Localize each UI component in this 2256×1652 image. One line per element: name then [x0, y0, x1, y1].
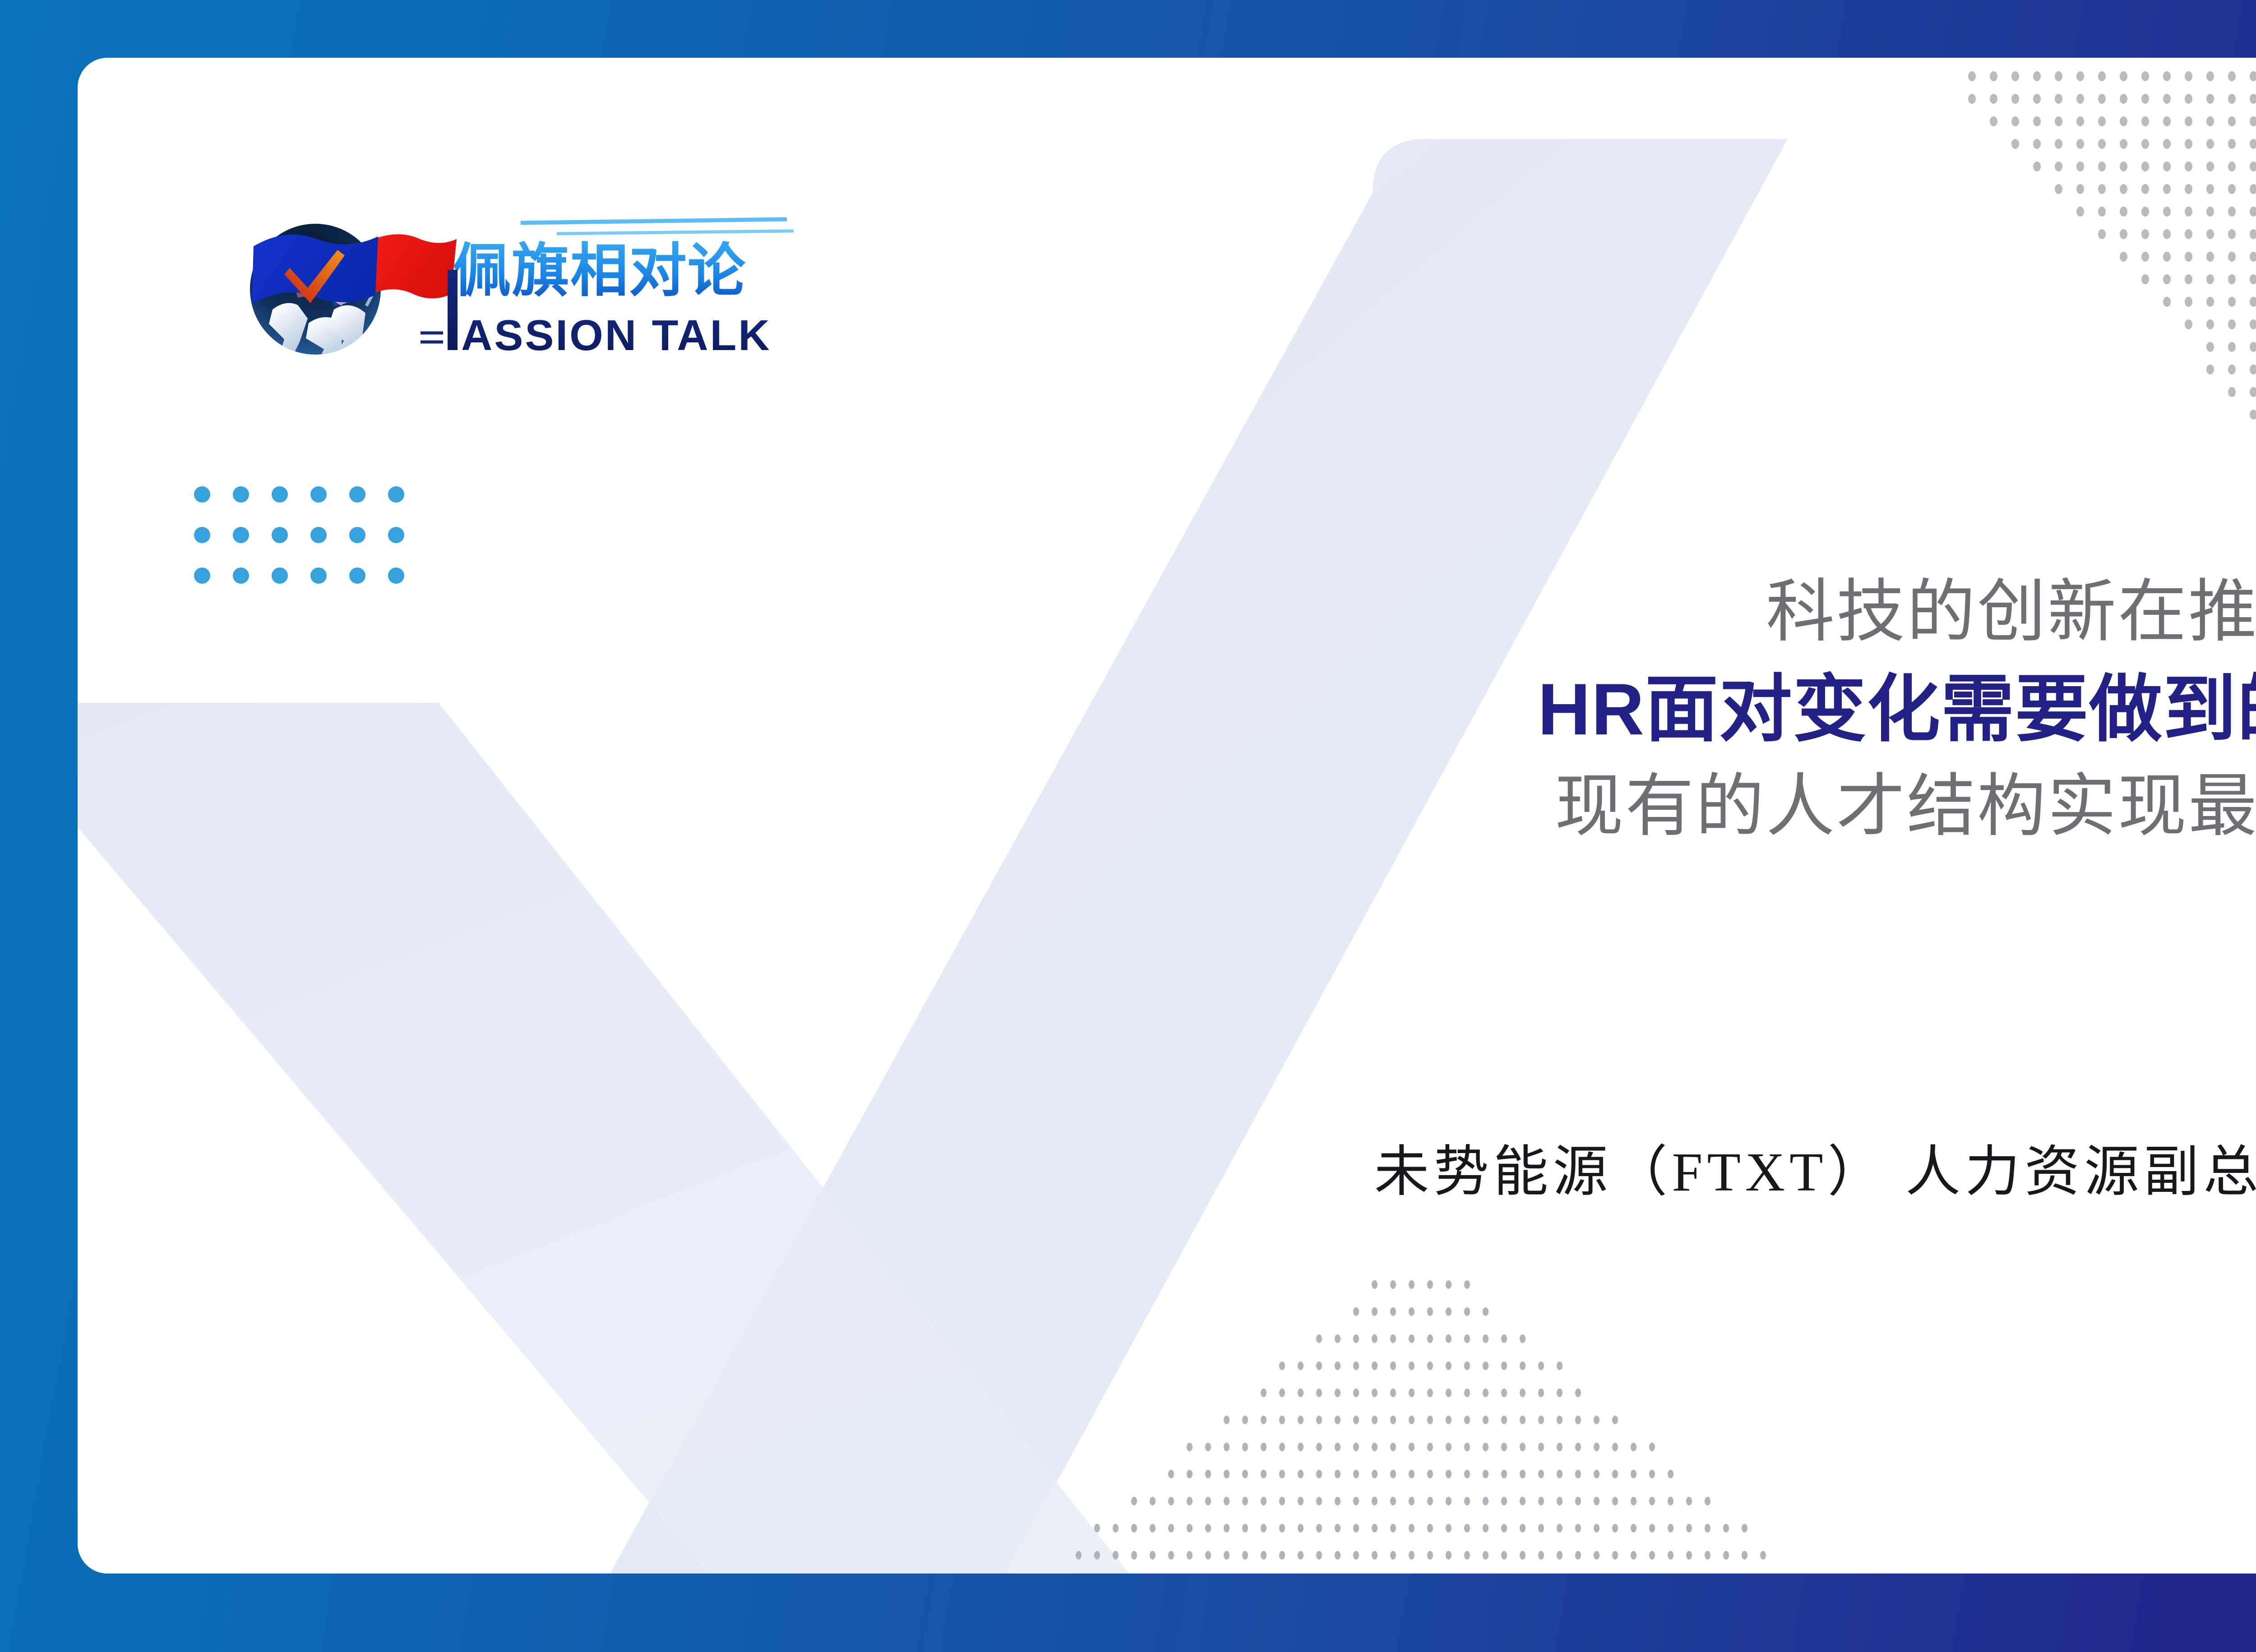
decor-dot: [1520, 1416, 1526, 1424]
decor-dot: [1094, 1551, 1100, 1560]
decor-dot: [2185, 139, 2192, 149]
decor-dot: [1353, 1334, 1359, 1343]
decor-dot: [1557, 1443, 1563, 1451]
decor-dot: [2141, 229, 2149, 239]
decor-dot: [1742, 1551, 1747, 1560]
decor-dot: [1242, 1551, 1248, 1560]
decor-dot: [2228, 207, 2236, 217]
decor-dot: [1335, 1524, 1341, 1532]
decor-dot: [1390, 1551, 1396, 1560]
decor-dot: [2228, 319, 2236, 329]
decor-dot: [1427, 1416, 1433, 1424]
decor-dot: [2206, 342, 2214, 352]
decor-dot: [2228, 184, 2236, 194]
decor-dot: [2250, 229, 2256, 239]
decor-dot: [2055, 184, 2062, 194]
decor-dot: [2250, 94, 2256, 104]
decor-dot: [1594, 1551, 1600, 1560]
decor-dot: [2033, 139, 2041, 149]
decor-dot: [1686, 1497, 1692, 1505]
decor-dot: [1316, 1497, 1322, 1505]
decor-dot: [1224, 1443, 1230, 1451]
decor-dot: [2055, 94, 2062, 104]
decor-dot: [1187, 1524, 1193, 1532]
decor-dot: [349, 568, 365, 584]
decor-dot: [2185, 71, 2192, 81]
decor-dot: [1427, 1307, 1433, 1316]
decor-dot: [1131, 1551, 1137, 1560]
decor-dot: [1316, 1551, 1322, 1560]
decor-dot: [2120, 71, 2127, 81]
decor-dot: [1279, 1524, 1285, 1532]
decor-dot: [1372, 1416, 1378, 1424]
decor-dot: [1131, 1524, 1137, 1532]
decor-dot: [1538, 1551, 1544, 1560]
decor-dot: [2120, 116, 2127, 126]
decor-dot: [1372, 1443, 1378, 1451]
decor-dot: [2055, 162, 2062, 171]
decor-dot: [1390, 1497, 1396, 1505]
decor-dot: [1335, 1497, 1341, 1505]
decor-dot: [2185, 229, 2192, 239]
decor-dot: [1187, 1443, 1193, 1451]
decor-dot: [1501, 1443, 1507, 1451]
decor-dot: [1094, 1524, 1100, 1532]
decor-dot: [2033, 71, 2041, 81]
decor-dot: [2011, 139, 2019, 149]
decor-dot: [2076, 162, 2084, 171]
decor-dot: [1990, 116, 1997, 126]
headline-block: 科技的创新在推动商业的变化 HR面对变化需要做到的是充分调动 现有的人才结构实现…: [741, 568, 2256, 851]
decor-dot: [1427, 1524, 1433, 1532]
decor-dot: [1446, 1524, 1452, 1532]
decor-dot: [1224, 1497, 1230, 1505]
decor-dot: [272, 568, 288, 584]
decor-dot: [1446, 1361, 1452, 1370]
decor-dot: [2033, 116, 2041, 126]
decor-dot: [2250, 184, 2256, 194]
decor-dot: [2076, 184, 2084, 194]
decor-dot: [1335, 1334, 1341, 1343]
decor-dot: [2098, 94, 2106, 104]
decor-dot: [1279, 1389, 1285, 1397]
decor-dot: [1427, 1551, 1433, 1560]
decor-dot: [1520, 1361, 1526, 1370]
decor-dot: [2163, 229, 2171, 239]
decor-dot: [1205, 1470, 1211, 1478]
decor-dot: [1501, 1524, 1507, 1532]
decor-dot: [1501, 1389, 1507, 1397]
decor-dot: [1224, 1551, 1230, 1560]
decor-dot: [1538, 1443, 1544, 1451]
decor-dot: [1464, 1524, 1470, 1532]
decor-dot: [1390, 1389, 1396, 1397]
decor-dot: [1464, 1361, 1470, 1370]
decor-dot: [1968, 71, 1976, 81]
decor-dot: [1372, 1524, 1378, 1532]
decor-dot: [1723, 1551, 1729, 1560]
decor-dot: [2185, 116, 2192, 126]
decor-dot: [2011, 116, 2019, 126]
decor-dot: [2098, 71, 2106, 81]
decor-dot: [1538, 1416, 1544, 1424]
decor-dot: [1723, 1524, 1729, 1532]
decor-dot: [1557, 1551, 1563, 1560]
decor-dot: [1298, 1443, 1304, 1451]
decor-dot: [1594, 1416, 1600, 1424]
decor-dot: [2228, 274, 2236, 284]
decor-dot: [1335, 1470, 1341, 1478]
decor-dot: [1705, 1497, 1710, 1505]
decor-dot: [1372, 1497, 1378, 1505]
logo-p-stem: [448, 270, 458, 350]
decor-dot: [1316, 1389, 1322, 1397]
decor-dot: [1483, 1389, 1489, 1397]
decor-dot: [1168, 1470, 1174, 1478]
decor-dot: [2206, 71, 2214, 81]
decor-dot: [1520, 1551, 1526, 1560]
decor-dot: [1224, 1470, 1230, 1478]
decor-dot: [1261, 1443, 1267, 1451]
decor-dot: [1446, 1443, 1452, 1451]
decor-dot: [1335, 1551, 1341, 1560]
decor-dot: [2228, 297, 2236, 307]
decor-dot: [2098, 184, 2106, 194]
decor-dot: [1538, 1470, 1544, 1478]
decor-dot: [1575, 1416, 1581, 1424]
decor-dot: [2076, 71, 2084, 81]
speaker-credit: 未势能源（FTXT） 人力资源副总裁——闫磊女士: [694, 1127, 2256, 1207]
decor-dot: [1372, 1389, 1378, 1397]
decor-dot: [2206, 297, 2214, 307]
decor-dot: [1205, 1443, 1211, 1451]
decor-dot: [2011, 71, 2019, 81]
decor-dot: [1242, 1470, 1248, 1478]
decor-dot: [1335, 1443, 1341, 1451]
decor-dot: [2141, 274, 2149, 284]
decor-dot: [1612, 1551, 1618, 1560]
decor-dot: [1131, 1497, 1137, 1505]
decor-dot: [2120, 184, 2127, 194]
decor-dot: [272, 486, 288, 503]
decor-dot: [2098, 116, 2106, 126]
decor-dot: [1409, 1334, 1415, 1343]
decor-dot: [2141, 162, 2149, 171]
red-flag-icon: [367, 234, 457, 298]
decor-dot: [1372, 1280, 1378, 1289]
decor-dot: [1483, 1524, 1489, 1532]
decor-dot: [1483, 1497, 1489, 1505]
decor-dot: [1501, 1334, 1507, 1343]
decor-dot: [2141, 71, 2149, 81]
decor-dot: [1372, 1470, 1378, 1478]
decor-dot: [2055, 139, 2062, 149]
decor-dot: [1372, 1334, 1378, 1343]
decor-dot: [349, 527, 365, 543]
decor-dot: [1372, 1551, 1378, 1560]
decor-dot: [2228, 365, 2236, 374]
decor-dot: [1538, 1497, 1544, 1505]
decor-dot: [2185, 94, 2192, 104]
decor-dot: [1427, 1361, 1433, 1370]
decor-dot: [1520, 1389, 1526, 1397]
decor-dot: [1113, 1524, 1119, 1532]
decor-dot: [1594, 1470, 1600, 1478]
decor-dot: [1668, 1551, 1674, 1560]
decor-dot: [1520, 1443, 1526, 1451]
decor-dot: [1483, 1334, 1489, 1343]
decor-dot: [2033, 162, 2041, 171]
decor-dot: [388, 527, 404, 543]
decor-dot: [1631, 1551, 1637, 1560]
headline-line-3: 现有的人才结构实现最终的价值转化: [741, 762, 2256, 851]
decor-dot: [1464, 1307, 1470, 1316]
decor-dot: [1649, 1524, 1655, 1532]
decor-dot: [2185, 319, 2192, 329]
decor-dot: [1427, 1470, 1433, 1478]
decor-dot: [2228, 139, 2236, 149]
slide-root: 佩旗相对论 ASSION TALK 科技的创新在推动商业的变化 HR面对变化需要…: [0, 0, 2256, 1652]
decor-dot: [1353, 1361, 1359, 1370]
decor-dot: [2185, 297, 2192, 307]
decor-dot: [1557, 1361, 1563, 1370]
decor-dot: [1353, 1389, 1359, 1397]
decor-dot: [1390, 1443, 1396, 1451]
decor-dots-blue: [194, 486, 406, 599]
decor-dot: [1279, 1551, 1285, 1560]
decor-dot: [194, 486, 210, 503]
decor-dot: [1409, 1389, 1415, 1397]
decor-dot: [2120, 139, 2127, 149]
decor-dot: [1538, 1389, 1544, 1397]
decor-dot: [1631, 1524, 1637, 1532]
decor-dot: [2163, 162, 2171, 171]
decor-dots-topright: [1968, 71, 2256, 577]
decor-dot: [1242, 1443, 1248, 1451]
decor-dot: [1612, 1416, 1618, 1424]
decor-dot: [1557, 1470, 1563, 1478]
decor-dot: [1298, 1524, 1304, 1532]
decor-dot: [194, 568, 210, 584]
decor-dot: [233, 568, 249, 584]
decor-dot: [1261, 1470, 1267, 1478]
decor-dot: [1990, 94, 1997, 104]
logo-chinese-title: 佩旗相对论: [453, 237, 746, 305]
decor-dot: [1427, 1497, 1433, 1505]
decor-dot: [1575, 1524, 1581, 1532]
decor-dot: [2055, 71, 2062, 81]
decor-dot: [2250, 410, 2256, 420]
decor-dot: [1594, 1443, 1600, 1451]
decor-dot: [2250, 116, 2256, 126]
decor-dot: [1261, 1416, 1267, 1424]
decor-dot: [1187, 1497, 1193, 1505]
decor-dot: [1409, 1307, 1415, 1316]
decor-dot: [1390, 1524, 1396, 1532]
decor-dot: [1446, 1551, 1452, 1560]
decor-dot: [1205, 1551, 1211, 1560]
decor-dot: [2250, 139, 2256, 149]
decor-dot: [2206, 365, 2214, 374]
decor-dot: [1390, 1280, 1396, 1289]
decor-dot: [1557, 1416, 1563, 1424]
decor-dot: [1668, 1470, 1674, 1478]
decor-dot: [2163, 184, 2171, 194]
decor-dot: [2228, 94, 2236, 104]
decor-dot: [1390, 1334, 1396, 1343]
decor-dot: [1649, 1497, 1655, 1505]
decor-dot: [2185, 207, 2192, 217]
decor-dot: [1446, 1470, 1452, 1478]
decor-dot: [1298, 1416, 1304, 1424]
decor-dot: [1483, 1416, 1489, 1424]
decor-dot: [1483, 1470, 1489, 1478]
decor-dot: [1150, 1497, 1156, 1505]
decor-dot: [2206, 116, 2214, 126]
decor-dot: [1298, 1389, 1304, 1397]
decor-dot: [1631, 1497, 1637, 1505]
decor-dot: [1316, 1361, 1322, 1370]
decor-dot: [1372, 1307, 1378, 1316]
decor-dot: [1575, 1497, 1581, 1505]
decor-dot: [1742, 1524, 1747, 1532]
decor-dot: [2228, 162, 2236, 171]
passion-talk-logo[interactable]: 佩旗相对论 ASSION TALK: [241, 174, 800, 382]
decor-dot: [2120, 229, 2127, 239]
decor-dot: [2206, 184, 2214, 194]
decor-dot: [2120, 252, 2127, 262]
decor-dot: [2120, 94, 2127, 104]
decor-dot: [1446, 1389, 1452, 1397]
decor-dot: [1150, 1524, 1156, 1532]
decor-dot: [1279, 1470, 1285, 1478]
decor-dot: [2206, 207, 2214, 217]
decor-dot: [1316, 1470, 1322, 1478]
decor-dot: [2076, 94, 2084, 104]
decor-dot: [2098, 207, 2106, 217]
decor-dot: [2098, 229, 2106, 239]
decor-dot: [1298, 1470, 1304, 1478]
decor-dot: [1298, 1497, 1304, 1505]
decor-dot: [2250, 162, 2256, 171]
decor-dot: [1446, 1307, 1452, 1316]
decor-dot: [1261, 1524, 1267, 1532]
decor-dot: [2163, 252, 2171, 262]
decor-dot: [1335, 1389, 1341, 1397]
decor-dot: [1224, 1524, 1230, 1532]
decor-dot: [1113, 1551, 1119, 1560]
decor-dot: [1335, 1361, 1341, 1370]
decor-dot: [1187, 1470, 1193, 1478]
decor-dot: [1501, 1416, 1507, 1424]
decor-dot: [1557, 1497, 1563, 1505]
decor-dot: [1557, 1524, 1563, 1532]
decor-dot: [2206, 139, 2214, 149]
decor-dot: [2206, 162, 2214, 171]
decor-dot: [1538, 1361, 1544, 1370]
decor-dot: [1279, 1361, 1285, 1370]
decor-dot: [388, 486, 404, 503]
decor-dot: [2228, 229, 2236, 239]
decor-dot: [1501, 1497, 1507, 1505]
decor-dot: [1298, 1361, 1304, 1370]
decor-dot: [272, 527, 288, 543]
decor-dot: [1168, 1497, 1174, 1505]
decor-dot: [1316, 1416, 1322, 1424]
decor-dot: [1409, 1443, 1415, 1451]
decor-dot: [1279, 1497, 1285, 1505]
decor-dot: [1575, 1551, 1581, 1560]
decor-dot: [1261, 1551, 1267, 1560]
decor-dot: [233, 486, 249, 503]
decor-dot: [1501, 1361, 1507, 1370]
decor-dot: [1557, 1389, 1563, 1397]
decor-dot: [1298, 1551, 1304, 1560]
decor-dot: [1242, 1497, 1248, 1505]
decor-dot: [2228, 342, 2236, 352]
decor-dot: [1316, 1443, 1322, 1451]
decor-dot: [1612, 1470, 1618, 1478]
decor-dot: [1409, 1280, 1415, 1289]
decor-dot: [1649, 1470, 1655, 1478]
decor-dot: [2250, 207, 2256, 217]
decor-dot: [1427, 1280, 1433, 1289]
decor-dot: [1316, 1334, 1322, 1343]
decor-dot: [2206, 274, 2214, 284]
decor-dot: [1390, 1470, 1396, 1478]
decor-dot: [1464, 1334, 1470, 1343]
content-card: 佩旗相对论 ASSION TALK 科技的创新在推动商业的变化 HR面对变化需要…: [78, 58, 2256, 1574]
decor-dot: [1316, 1524, 1322, 1532]
decor-dot: [1446, 1497, 1452, 1505]
decor-dot: [2185, 252, 2192, 262]
decor-dot: [310, 527, 327, 543]
decor-dot: [1353, 1551, 1359, 1560]
decor-dot: [2206, 229, 2214, 239]
decor-dot: [2250, 365, 2256, 374]
decor-dot: [1538, 1524, 1544, 1532]
decor-dot: [2250, 252, 2256, 262]
decor-dot: [1409, 1497, 1415, 1505]
decor-dot: [1205, 1524, 1211, 1532]
decor-dot: [1464, 1443, 1470, 1451]
decor-dot: [2163, 274, 2171, 284]
decor-dot: [2141, 94, 2149, 104]
decor-dot: [2033, 94, 2041, 104]
decor-dot: [2228, 252, 2236, 262]
decor-dot: [1649, 1443, 1655, 1451]
decor-dot: [2076, 116, 2084, 126]
decor-dot: [1427, 1334, 1433, 1343]
decor-dot: [1464, 1416, 1470, 1424]
decor-dot: [1483, 1443, 1489, 1451]
decor-dot: [2250, 319, 2256, 329]
decor-dot: [1187, 1551, 1193, 1560]
decor-dot: [1242, 1524, 1248, 1532]
decor-dot: [2098, 139, 2106, 149]
decor-dot: [1427, 1389, 1433, 1397]
decor-dot: [2163, 297, 2171, 307]
decor-dot: [1261, 1389, 1267, 1397]
decor-dot: [1427, 1443, 1433, 1451]
decor-dot: [1594, 1524, 1600, 1532]
decor-dot: [1224, 1416, 1230, 1424]
decor-dot: [1168, 1551, 1174, 1560]
decor-dot: [1409, 1416, 1415, 1424]
decor-dot: [1575, 1443, 1581, 1451]
decor-dot: [1464, 1389, 1470, 1397]
decor-dot: [1686, 1524, 1692, 1532]
